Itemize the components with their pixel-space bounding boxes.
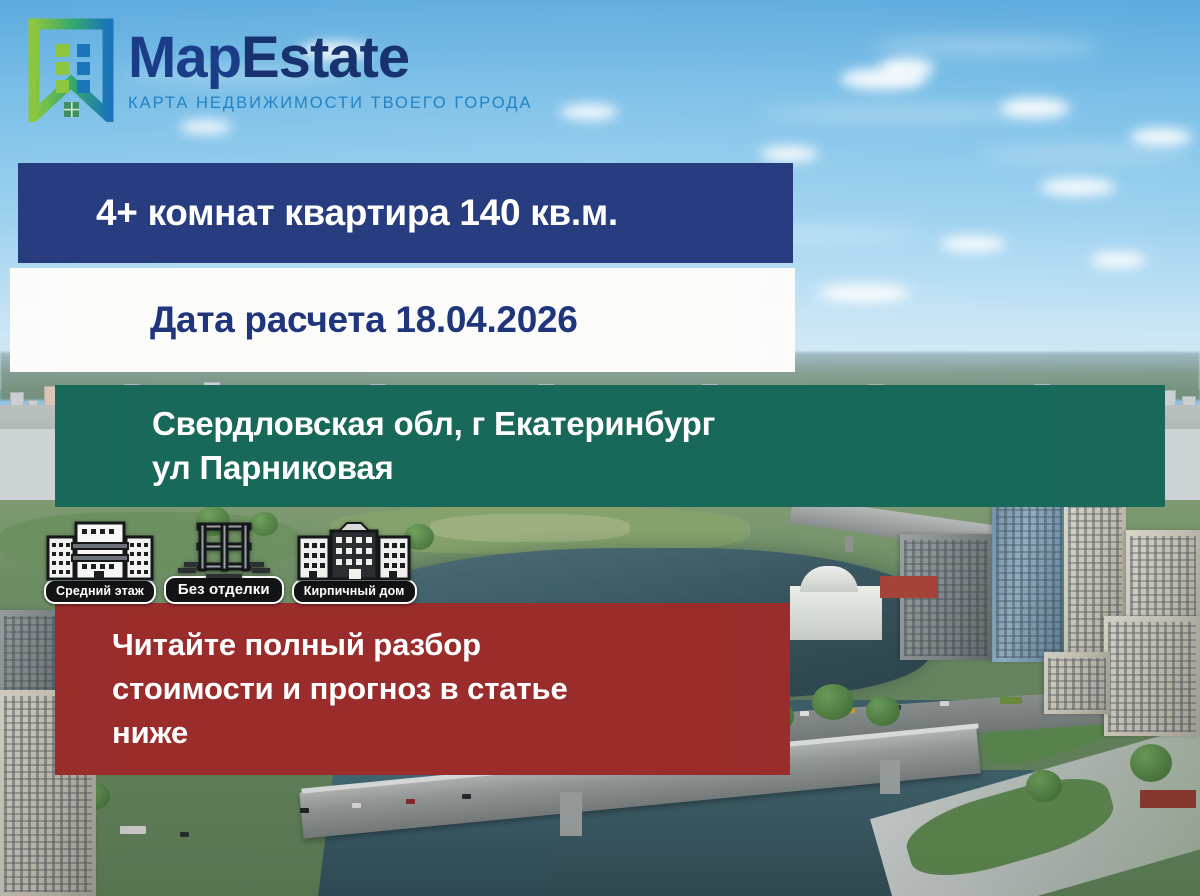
construction-frame-icon: [172, 518, 276, 580]
cta-line-1: Читайте полный разбор: [112, 623, 568, 667]
badge-brick-house[interactable]: Кирпичный дом: [292, 521, 417, 604]
address-line-region: Свердловская обл, г Екатеринбург: [152, 402, 715, 446]
badge-no-finishing[interactable]: Без отделки: [164, 518, 284, 604]
brand-name-map: Map: [128, 25, 241, 90]
address-line-street: ул Парниковая: [152, 446, 715, 490]
address-banner-text: Свердловская обл, г Екатеринбург ул Парн…: [152, 402, 715, 490]
cta-line-3: ниже: [112, 711, 568, 755]
brand-name: MapEstate: [128, 29, 532, 87]
brand-tagline: КАРТА НЕДВИЖИМОСТИ ТВОЕГО ГОРОДА: [128, 95, 532, 112]
brand-logo[interactable]: MapEstate КАРТА НЕДВИЖИМОСТИ ТВОЕГО ГОРО…: [28, 18, 532, 122]
address-banner: Свердловская обл, г Екатеринбург ул Парн…: [55, 385, 1165, 507]
feature-badges: Средний этаж: [44, 518, 417, 604]
promo-poster: MapEstate КАРТА НЕДВИЖИМОСТИ ТВОЕГО ГОРО…: [0, 0, 1200, 896]
badge-no-finishing-label: Без отделки: [164, 576, 284, 604]
glass-tower: [992, 480, 1066, 662]
apartment-complex-icon: [46, 521, 154, 583]
brand-name-estate: Estate: [241, 25, 409, 90]
date-banner: Дата расчета 18.04.2026: [10, 268, 795, 372]
rooms-banner-text: 4+ комнат квартира 140 кв.м.: [96, 192, 618, 234]
date-banner-text: Дата расчета 18.04.2026: [150, 299, 578, 341]
badge-middle-floor[interactable]: Средний этаж: [44, 521, 156, 604]
cta-banner: Читайте полный разбор стоимости и прогно…: [55, 603, 790, 775]
classical-building: [790, 586, 882, 640]
bookmark-building-icon: [28, 18, 114, 122]
cta-banner-text: Читайте полный разбор стоимости и прогно…: [112, 623, 568, 755]
brick-building-icon: [295, 521, 413, 583]
rooms-banner: 4+ комнат квартира 140 кв.м.: [18, 163, 793, 263]
cta-line-2: стоимости и прогноз в статье: [112, 667, 568, 711]
